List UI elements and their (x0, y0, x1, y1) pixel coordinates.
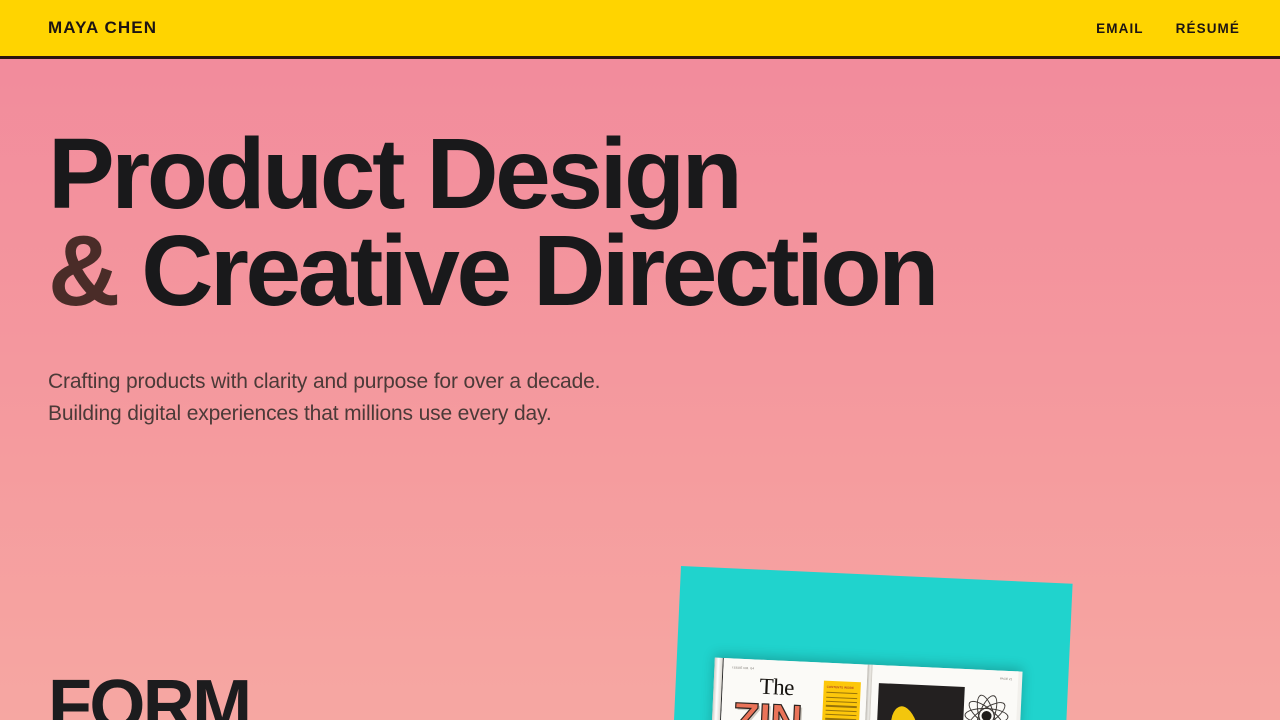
magazine-black-panel (871, 683, 965, 720)
nav-link-resume[interactable]: RÉSUMÉ (1176, 21, 1240, 36)
magazine-kicker: ISSUE NO. 04 (732, 665, 861, 675)
atom-diagram-icon (964, 693, 1010, 720)
magazine-sidebar-heading: CONTENTS INSIDE (827, 685, 858, 691)
text-line (826, 696, 857, 699)
text-line (826, 701, 857, 704)
text-line (826, 705, 857, 708)
text-line (826, 692, 857, 695)
ampersand-glyph: & (48, 215, 117, 327)
hero-title-line-2-text: Creative Direction (141, 215, 936, 327)
nav-link-email[interactable]: EMAIL (1096, 21, 1144, 36)
atom-nucleus (981, 711, 991, 720)
magazine-right-page: PAGE 21 EDITOR'S NOTE (863, 665, 1018, 720)
text-line (825, 714, 856, 717)
hero-subtitle: Crafting products with clarity and purpo… (48, 366, 936, 430)
section-heading-form: FORM (48, 670, 250, 720)
hero-subtitle-line-1: Crafting products with clarity and purpo… (48, 366, 936, 398)
pear-shape-icon (887, 704, 920, 720)
magazine-folio: PAGE 21 (1000, 677, 1012, 682)
hero-section: Product Design & Creative Direction Craf… (48, 126, 936, 430)
hero-title-line-2: & Creative Direction (48, 223, 936, 320)
magazine-left-page: ISSUE NO. 04 The ZIN CONTENTS INSIDE (714, 658, 867, 720)
text-line (826, 709, 857, 712)
magazine-spread-image: ISSUE NO. 04 The ZIN CONTENTS INSIDE (705, 658, 1022, 720)
hero-title-line-1: Product Design (48, 126, 936, 223)
brand-logo[interactable]: MAYA CHEN (48, 18, 157, 38)
showcase-teal-card: ISSUE NO. 04 The ZIN CONTENTS INSIDE (667, 566, 1072, 720)
site-header: MAYA CHEN EMAIL RÉSUMÉ (0, 0, 1280, 59)
hero-subtitle-line-2: Building digital experiences that millio… (48, 398, 936, 430)
primary-nav: EMAIL RÉSUMÉ (1096, 21, 1240, 36)
